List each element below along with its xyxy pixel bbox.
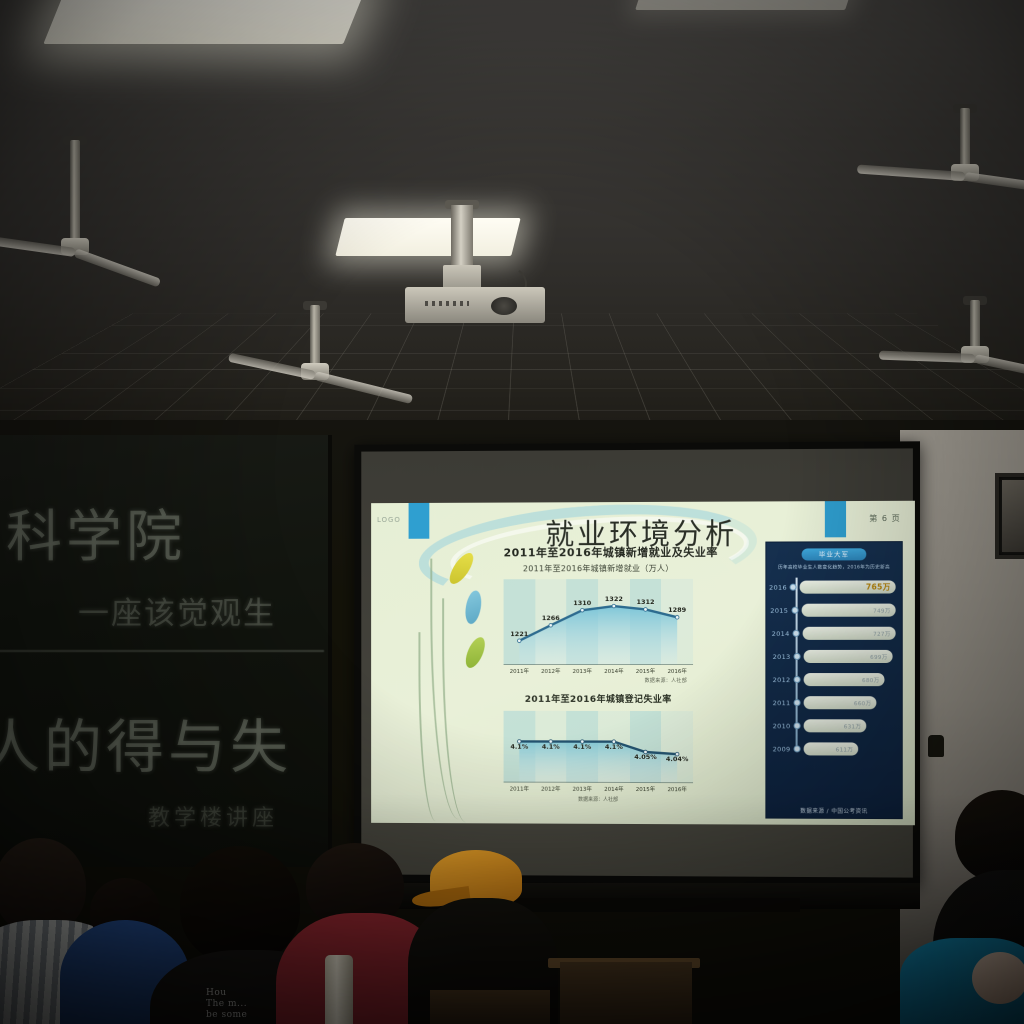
- decorative-stem: [418, 632, 440, 821]
- timeline-bar: 611万: [804, 742, 859, 755]
- timeline-dot-icon: [794, 676, 801, 683]
- projector-pole: [451, 205, 473, 267]
- timeline-year-label: 2016: [768, 583, 787, 591]
- timeline-bar: 749万: [801, 604, 895, 617]
- timeline-row: 2010631万: [768, 714, 895, 737]
- timeline-year-label: 2010: [768, 722, 790, 730]
- blackboard-chalk-subtitle: 一座该觉观生: [78, 588, 276, 633]
- timeline-year-label: 2014: [768, 629, 789, 637]
- timeline-bar: 680万: [804, 673, 885, 686]
- chart-value-label: 4.1%: [605, 742, 623, 750]
- x-tick-label: 2011年: [504, 785, 535, 793]
- fan-rod: [310, 305, 320, 365]
- timeline-dot-icon: [794, 722, 801, 729]
- projector-vent: [425, 301, 469, 306]
- x-tick-label: 2012年: [535, 785, 567, 793]
- timeline-bar: 699万: [804, 650, 893, 663]
- timeline-dot-icon: [793, 630, 800, 637]
- timeline-value-label: 680万: [862, 676, 879, 684]
- timeline-row: 2009611万: [768, 737, 895, 760]
- chart1-series: [504, 579, 693, 665]
- chart-value-label: 4.04%: [666, 755, 689, 763]
- timeline-dot-icon: [790, 584, 797, 591]
- chart-value-label: 4.1%: [510, 742, 528, 750]
- chart-value-label: 1221: [510, 630, 528, 638]
- chart1-subtitle: 2011年至2016年城镇新增就业（万人）: [504, 563, 693, 574]
- blackboard-chalk-line: 人的得与失: [0, 700, 292, 784]
- timeline-bar: 727万: [803, 627, 896, 640]
- graduates-timeline-panel: 毕业大军 历年高校毕业生人数变化趋势，2016年为历史新高 2016765万20…: [765, 541, 902, 819]
- chart2-series: [504, 711, 693, 783]
- timeline-dot-icon: [794, 699, 801, 706]
- timeline-bar: 660万: [804, 696, 877, 709]
- timeline-dot-icon: [794, 653, 801, 660]
- ceiling-light-panel: [43, 0, 366, 44]
- chart-value-label: 1322: [605, 595, 623, 603]
- timeline-bar: 631万: [804, 719, 867, 732]
- timeline-subtitle: 历年高校毕业生人数变化趋势，2016年为历史新高: [766, 564, 901, 570]
- timeline-value-label: 749万: [873, 606, 890, 614]
- timeline-value-label: 699万: [870, 652, 887, 660]
- timeline-badge: 毕业大军: [802, 548, 867, 560]
- fan-blade: [857, 164, 965, 181]
- presentation-slide: LOGO 第 6 页 就业环境分析 2011年至2016年城镇新增就业及失业率 …: [371, 501, 915, 825]
- projector-lens: [491, 297, 517, 315]
- timeline-value-label: 660万: [854, 699, 871, 707]
- fan-blade: [964, 172, 1024, 193]
- fan-rod: [970, 300, 980, 348]
- timeline-dot-icon: [791, 607, 798, 614]
- chart2-title: 2011年至2016年城镇登记失业率: [504, 692, 693, 705]
- desk: [430, 990, 550, 1024]
- chart-value-label: 4.05%: [634, 753, 657, 761]
- chart1-title: 2011年至2016年城镇新增就业及失业率: [504, 544, 693, 561]
- timeline-rows: 2016765万2015749万2014727万2013699万2012680万…: [766, 575, 901, 760]
- blackboard-chalk-title: 科学院: [6, 492, 186, 573]
- charts-column: 2011年至2016年城镇新增就业及失业率 2011年至2016年城镇新增就业（…: [504, 544, 693, 816]
- chart1-plot: 122112661310132213121289: [504, 579, 693, 665]
- timeline-bar: 765万: [800, 580, 896, 593]
- chart-value-label: 1289: [668, 606, 686, 614]
- chart1-x-axis: [504, 664, 693, 665]
- timeline-year-label: 2013: [768, 652, 790, 660]
- timeline-row: 2012680万: [768, 668, 895, 691]
- timeline-row: 2014727万: [768, 622, 895, 645]
- x-tick-label: 2015年: [630, 667, 662, 675]
- x-tick-label: 2012年: [535, 667, 567, 675]
- person-head: [955, 790, 1024, 882]
- projection-screen: LOGO 第 6 页 就业环境分析 2011年至2016年城镇新增就业及失业率 …: [354, 441, 920, 884]
- x-tick-label: 2015年: [630, 785, 662, 793]
- fan-rod: [70, 140, 80, 240]
- chart2-source-note: 数据来源：人社部: [504, 796, 693, 804]
- wall-socket-icon: [928, 735, 944, 757]
- framed-picture: [995, 473, 1024, 559]
- timeline-row: 2011660万: [768, 691, 895, 714]
- shirt-print-text: HouThe m...be some: [206, 988, 247, 1021]
- decorative-bud-blue: [463, 589, 483, 625]
- chart-value-label: 4.1%: [542, 742, 560, 750]
- x-tick-label: 2014年: [598, 667, 630, 675]
- chart-value-label: 1310: [573, 599, 591, 607]
- water-bottle: [325, 955, 353, 1024]
- timeline-value-label: 611万: [836, 745, 853, 753]
- chart-value-label: 4.1%: [573, 742, 591, 750]
- chart-value-label: 1266: [542, 614, 560, 622]
- chart2-x-axis: [504, 782, 693, 784]
- x-tick-label: 2016年: [661, 785, 693, 793]
- blackboard-chalk-note: 教学楼讲座: [148, 800, 278, 832]
- chart1-x-tick-labels: 2011年2012年2013年2014年2015年2016年: [504, 667, 693, 675]
- chart1-source-note: 数据来源：人社部: [504, 677, 693, 684]
- timeline-year-label: 2012: [768, 676, 790, 684]
- desk: [560, 962, 692, 1024]
- timeline-row: 2015749万: [768, 599, 895, 622]
- screen-casing-lower: [500, 898, 800, 912]
- timeline-year-label: 2009: [768, 745, 790, 753]
- timeline-footer-note: 数据来源 / 中国公考资讯: [766, 807, 901, 816]
- timeline-year-label: 2015: [768, 606, 788, 614]
- timeline-value-label: 765万: [866, 581, 891, 592]
- timeline-row: 2016765万: [768, 575, 895, 598]
- ceiling: [0, 0, 1024, 470]
- timeline-value-label: 727万: [873, 629, 890, 637]
- fan-rod: [960, 108, 970, 166]
- x-tick-label: 2013年: [567, 667, 599, 675]
- timeline-value-label: 631万: [844, 722, 861, 730]
- chart2-plot: 4.1%4.1%4.1%4.1%4.05%4.04%: [504, 711, 693, 783]
- person-head: [972, 952, 1024, 1004]
- ceiling-projector: [405, 205, 553, 323]
- classroom-photo-scene: 科学院 一座该觉观生 人的得与失 教学楼讲座 LOGO 第 6 页 就业环境分析…: [0, 0, 1024, 1024]
- x-tick-label: 2014年: [598, 785, 630, 793]
- blackboard-divider: [0, 650, 324, 652]
- picture-inner: [1002, 480, 1024, 552]
- ceiling-light-panel: [635, 0, 855, 10]
- timeline-row: 2013699万: [768, 645, 895, 668]
- person-head-long-hair: [180, 846, 300, 964]
- chart2-x-tick-labels: 2011年2012年2013年2014年2015年2016年: [504, 785, 693, 794]
- x-tick-label: 2011年: [504, 667, 535, 675]
- timeline-dot-icon: [794, 745, 801, 752]
- x-tick-label: 2013年: [567, 785, 599, 793]
- timeline-year-label: 2011: [768, 699, 790, 707]
- fan-blade: [73, 248, 161, 287]
- x-tick-label: 2016年: [661, 667, 693, 675]
- chart-value-label: 1312: [636, 598, 654, 606]
